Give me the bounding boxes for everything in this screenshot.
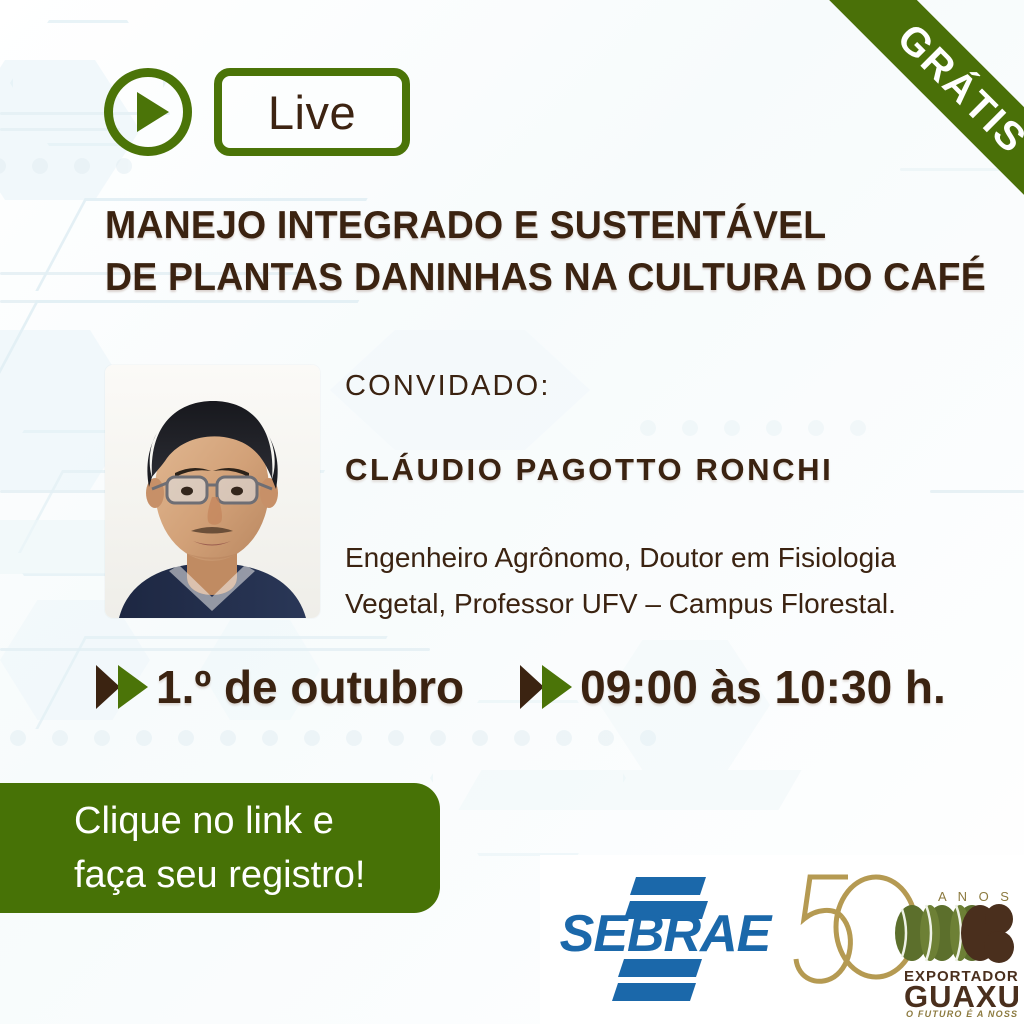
live-badge-label: Live bbox=[268, 85, 356, 140]
play-icon bbox=[104, 68, 192, 156]
cta-panel[interactable]: Clique no link e faça seu registro! bbox=[0, 783, 440, 913]
decor-line bbox=[0, 128, 120, 131]
speaker-bio-line-2: Vegetal, Professor UFV – Campus Floresta… bbox=[345, 581, 945, 627]
event-date-text: 1.º de outubro bbox=[156, 660, 464, 714]
live-indicator: Live bbox=[104, 68, 410, 156]
decor-line bbox=[930, 490, 1024, 493]
schedule-row: 1.º de outubro 09:00 às 10:30 h. bbox=[96, 660, 946, 714]
sebrae-logo: SEBRAE bbox=[558, 871, 773, 1006]
speaker-bio: Engenheiro Agrônomo, Doutor em Fisiologi… bbox=[345, 535, 945, 627]
decor-dots bbox=[0, 158, 132, 174]
decor-hex-outline bbox=[430, 700, 626, 856]
guaxupe-anos: A N O S bbox=[938, 889, 1013, 904]
footer-logo-bar: SEBRAE A N O S bbox=[540, 855, 1024, 1024]
free-ribbon-label: GRÁTIS bbox=[888, 15, 1024, 162]
speaker-photo bbox=[105, 365, 320, 618]
page-title-line-2: DE PLANTAS DANINHAS NA CULTURA DO CAFÉ bbox=[105, 252, 902, 304]
live-badge: Live bbox=[214, 68, 410, 156]
decor-bar bbox=[458, 770, 801, 810]
double-arrow-icon bbox=[520, 665, 572, 709]
guaxupe-logo: A N O S EXPORTADORA DE CAFÉ GUAXUPÉ bbox=[790, 861, 1018, 1019]
event-time-text: 09:00 às 10:30 h. bbox=[580, 660, 946, 714]
decor-line bbox=[0, 648, 430, 651]
speaker-bio-line-1: Engenheiro Agrônomo, Doutor em Fisiologi… bbox=[345, 535, 945, 581]
decor-dots bbox=[640, 420, 866, 436]
page-title-line-1: MANEJO INTEGRADO E SUSTENTÁVEL bbox=[105, 200, 902, 252]
decor-line bbox=[0, 490, 110, 493]
double-arrow-icon bbox=[96, 665, 148, 709]
event-time: 09:00 às 10:30 h. bbox=[520, 660, 946, 714]
decor-dots bbox=[10, 730, 656, 746]
cta-line-1: Clique no link e bbox=[74, 794, 440, 848]
speaker-name: CLÁUDIO PAGOTTO RONCHI bbox=[345, 452, 833, 488]
play-triangle-icon bbox=[137, 92, 169, 132]
sebrae-wordmark: SEBRAE bbox=[560, 905, 773, 963]
guest-label: CONVIDADO: bbox=[345, 370, 551, 403]
page-title: MANEJO INTEGRADO E SUSTENTÁVEL DE PLANTA… bbox=[105, 200, 902, 304]
event-date: 1.º de outubro bbox=[96, 660, 464, 714]
cta-line-2: faça seu registro! bbox=[74, 848, 440, 902]
guaxupe-tagline: O FUTURO É A NOSSA HISTÓRIA! bbox=[906, 1008, 1018, 1019]
poster-canvas: GRÁTIS Live MANEJO INTEGRADO E SUSTENTÁV… bbox=[0, 0, 1024, 1024]
